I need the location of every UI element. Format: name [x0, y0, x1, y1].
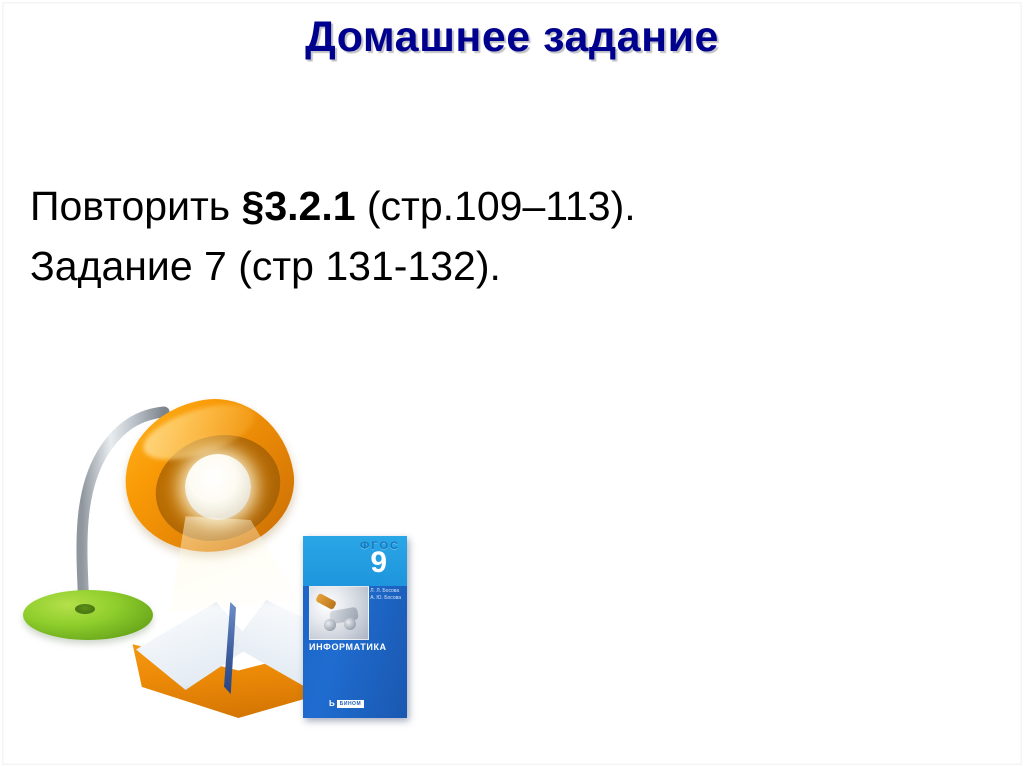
homework-line-1-pages: (стр.109–113). [356, 183, 636, 229]
cover-photo-wheel-left [324, 619, 336, 631]
publisher-name: БИНОМ [337, 700, 364, 708]
page-title: Домашнее задание [0, 13, 1024, 62]
textbook-author-1: Л. Л. Босова [370, 588, 401, 595]
lamp-base-joint [75, 604, 95, 614]
informatics-textbook: ФГОС 9 Л. Л. Босова А. Ю. Босова ИНФОРМА… [303, 536, 407, 718]
textbook-grade-number: 9 [370, 548, 387, 578]
textbook-subject-title: ИНФОРМАТИКА [309, 642, 387, 652]
cover-photo-wheel-right [344, 618, 356, 630]
slide: Домашнее задание Повторить §3.2.1 (стр.1… [0, 0, 1024, 767]
illustration-desk-scene: ФГОС 9 Л. Л. Босова А. Ю. Босова ИНФОРМА… [20, 398, 440, 753]
homework-line-1: Повторить §3.2.1 (стр.109–113). [30, 176, 970, 236]
publisher-mark: Ь [329, 699, 335, 708]
homework-line-1-section: §3.2.1 [242, 183, 356, 229]
textbook-author-2: А. Ю. Босова [370, 595, 401, 602]
textbook-authors: Л. Л. Босова А. Ю. Босова [370, 588, 401, 602]
homework-text-block: Повторить §3.2.1 (стр.109–113). Задание … [30, 176, 970, 296]
homework-line-1-prefix: Повторить [30, 183, 242, 229]
textbook-cover-photo [309, 586, 369, 640]
textbook-publisher-logo: Ь БИНОМ [329, 699, 364, 708]
lamp-bulb [185, 454, 251, 520]
homework-line-2: Задание 7 (стр 131-132). [30, 236, 970, 296]
cover-photo-shape-a [315, 593, 337, 610]
